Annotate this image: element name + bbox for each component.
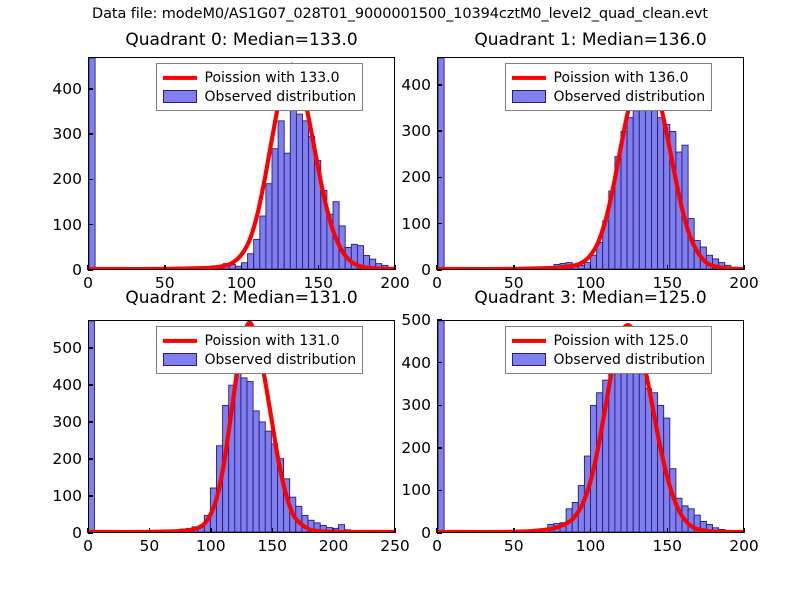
- y-tick-mark: [437, 223, 442, 224]
- legend-entry: Observed distribution: [163, 87, 357, 106]
- x-tick-mark: [590, 528, 591, 533]
- histogram-bar: [284, 153, 290, 269]
- x-tick-label: 100: [576, 274, 606, 292]
- histogram-bar: [241, 378, 247, 532]
- histogram-bar: [621, 355, 627, 532]
- histogram-bar: [658, 405, 664, 532]
- legend-patch-swatch-icon: [512, 90, 546, 103]
- y-tick-label: 100: [26, 216, 82, 234]
- histogram-bar: [309, 137, 315, 269]
- y-tick-mark: [437, 177, 442, 178]
- legend-entry: Observed distribution: [512, 350, 706, 369]
- histogram-bar: [89, 321, 94, 532]
- legend-label: Poission with 131.0: [205, 333, 340, 349]
- y-tick-label: 100: [375, 481, 431, 499]
- y-tick-label: 300: [26, 125, 82, 143]
- y-tick-label: 200: [26, 450, 82, 468]
- x-tick-mark: [436, 265, 437, 270]
- x-tick-label: 200: [729, 537, 759, 555]
- y-tick-mark: [437, 405, 442, 406]
- y-tick-mark: [88, 384, 93, 385]
- histogram-bar: [438, 58, 444, 269]
- histogram-bar: [247, 382, 253, 532]
- y-tick-label: 300: [375, 122, 431, 140]
- legend-entry: Observed distribution: [512, 87, 706, 106]
- x-tick-mark: [743, 265, 744, 270]
- histogram-bar: [266, 184, 272, 269]
- histogram-bar: [278, 121, 284, 269]
- legend-entry: Poission with 131.0: [163, 331, 357, 350]
- x-tick-label: 0: [432, 537, 442, 555]
- y-tick-mark: [88, 224, 93, 225]
- y-tick-label: 200: [26, 170, 82, 188]
- y-tick-mark: [88, 458, 93, 459]
- y-tick-mark: [437, 319, 442, 320]
- histogram-bar: [260, 216, 266, 269]
- histogram-bar: [633, 111, 639, 269]
- legend-quadrant-0: Poission with 133.0Observed distribution: [156, 63, 364, 111]
- legend-label: Observed distribution: [554, 89, 706, 105]
- x-tick-mark: [87, 528, 88, 533]
- histogram-bar: [89, 58, 95, 269]
- subplot-quadrant-0: Quadrant 0: Median=133.0: [28, 30, 395, 54]
- subplot-quadrant-1: Quadrant 1: Median=136.0: [377, 30, 744, 54]
- x-tick-label: 50: [155, 274, 175, 292]
- y-tick-label: 200: [375, 439, 431, 457]
- x-tick-label: 50: [504, 274, 524, 292]
- histogram-bar: [253, 411, 259, 532]
- histogram-bar: [639, 374, 645, 532]
- legend-label: Observed distribution: [205, 89, 357, 105]
- histogram-bar: [615, 359, 621, 532]
- y-tick-mark: [437, 84, 442, 85]
- x-tick-mark: [272, 528, 273, 533]
- figure-suptitle: Data file: modeM0/AS1G07_028T01_90000015…: [0, 5, 800, 23]
- histogram-bar: [265, 431, 271, 532]
- figure-canvas: Data file: modeM0/AS1G07_028T01_90000015…: [0, 0, 800, 600]
- histogram-bar: [254, 239, 260, 269]
- x-tick-label: 100: [227, 274, 257, 292]
- y-tick-label: 500: [375, 311, 431, 329]
- x-tick-label: 50: [140, 537, 160, 555]
- legend-entry: Poission with 125.0: [512, 331, 706, 350]
- legend-quadrant-1: Poission with 136.0Observed distribution: [505, 63, 713, 111]
- histogram-bar: [303, 121, 309, 269]
- legend-entry: Poission with 136.0: [512, 68, 706, 87]
- legend-patch-swatch-icon: [512, 353, 546, 366]
- x-tick-label: 150: [652, 274, 682, 292]
- x-tick-label: 0: [432, 274, 442, 292]
- y-tick-mark: [88, 133, 93, 134]
- x-tick-mark: [667, 528, 668, 533]
- legend-line-swatch-icon: [512, 71, 546, 85]
- histogram-bar: [242, 263, 248, 269]
- x-tick-mark: [590, 265, 591, 270]
- histogram-bar: [639, 92, 645, 269]
- subplot-title-quadrant-0: Quadrant 0: Median=133.0: [88, 30, 395, 50]
- histogram-bar: [627, 118, 633, 269]
- y-tick-mark: [437, 130, 442, 131]
- histogram-bar: [652, 108, 658, 269]
- y-tick-label: 400: [375, 76, 431, 94]
- legend-quadrant-3: Poission with 125.0Observed distribution: [505, 326, 713, 374]
- y-tick-mark: [88, 495, 93, 496]
- x-tick-mark: [436, 528, 437, 533]
- histogram-bar: [658, 118, 664, 269]
- x-tick-mark: [743, 528, 744, 533]
- y-tick-mark: [437, 490, 442, 491]
- histogram-bar: [248, 254, 254, 269]
- legend-entry: Observed distribution: [163, 350, 357, 369]
- x-tick-mark: [149, 528, 150, 533]
- legend-label: Observed distribution: [205, 352, 357, 368]
- y-tick-label: 0: [375, 261, 431, 279]
- y-tick-mark: [88, 347, 93, 348]
- y-tick-mark: [437, 362, 442, 363]
- x-tick-mark: [513, 265, 514, 270]
- y-tick-mark: [88, 88, 93, 89]
- y-tick-label: 400: [375, 354, 431, 372]
- histogram-bar: [645, 389, 651, 532]
- x-tick-label: 100: [576, 537, 606, 555]
- x-tick-label: 200: [319, 537, 349, 555]
- legend-label: Poission with 136.0: [554, 70, 689, 86]
- x-tick-mark: [164, 265, 165, 270]
- x-tick-mark: [513, 528, 514, 533]
- histogram-bar: [597, 393, 603, 532]
- histogram-bar: [438, 321, 444, 532]
- legend-label: Poission with 125.0: [554, 333, 689, 349]
- y-tick-label: 300: [26, 413, 82, 431]
- y-tick-label: 100: [375, 215, 431, 233]
- legend-label: Observed distribution: [554, 352, 706, 368]
- y-tick-mark: [88, 421, 93, 422]
- y-tick-label: 100: [26, 487, 82, 505]
- y-tick-label: 0: [26, 524, 82, 542]
- y-tick-label: 400: [26, 376, 82, 394]
- histogram-bar: [272, 149, 278, 269]
- x-tick-label: 200: [729, 274, 759, 292]
- y-tick-label: 400: [26, 80, 82, 98]
- x-tick-label: 150: [257, 537, 287, 555]
- x-tick-label: 0: [83, 537, 93, 555]
- x-tick-mark: [318, 265, 319, 270]
- legend-quadrant-2: Poission with 131.0Observed distribution: [156, 326, 364, 374]
- y-tick-mark: [437, 447, 442, 448]
- subplot-title-quadrant-1: Quadrant 1: Median=136.0: [437, 30, 744, 50]
- y-tick-label: 300: [375, 396, 431, 414]
- histogram-bar: [259, 422, 265, 532]
- legend-patch-swatch-icon: [163, 353, 197, 366]
- y-tick-label: 500: [26, 339, 82, 357]
- x-tick-label: 100: [196, 537, 226, 555]
- legend-label: Poission with 133.0: [205, 70, 340, 86]
- x-tick-label: 150: [652, 537, 682, 555]
- legend-entry: Poission with 133.0: [163, 68, 357, 87]
- y-tick-mark: [88, 179, 93, 180]
- x-tick-label: 50: [504, 537, 524, 555]
- legend-line-swatch-icon: [163, 334, 197, 348]
- x-tick-mark: [667, 265, 668, 270]
- legend-patch-swatch-icon: [163, 90, 197, 103]
- y-tick-label: 0: [375, 524, 431, 542]
- x-tick-label: 150: [303, 274, 333, 292]
- x-tick-mark: [333, 528, 334, 533]
- x-tick-mark: [87, 265, 88, 270]
- x-tick-mark: [241, 265, 242, 270]
- legend-line-swatch-icon: [512, 334, 546, 348]
- y-tick-label: 200: [375, 168, 431, 186]
- legend-line-swatch-icon: [163, 71, 197, 85]
- x-tick-label: 0: [83, 274, 93, 292]
- y-tick-label: 0: [26, 261, 82, 279]
- histogram-bar: [296, 114, 302, 269]
- x-tick-mark: [210, 528, 211, 533]
- histogram-bar: [633, 367, 639, 532]
